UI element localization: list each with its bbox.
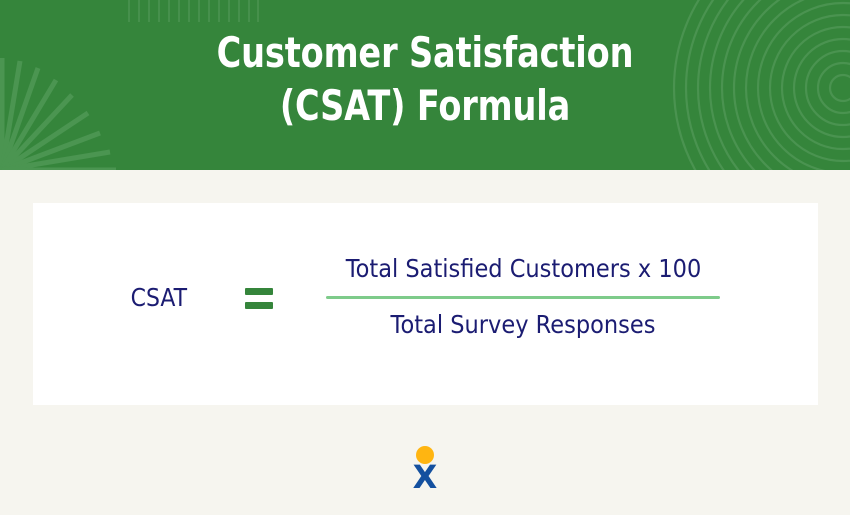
brand-logo: X bbox=[405, 443, 445, 491]
fraction-denominator: Total Survey Responses bbox=[346, 308, 701, 342]
equals-sign-icon bbox=[245, 288, 273, 310]
header-banner: Customer Satisfaction (CSAT) Formula bbox=[0, 0, 850, 170]
formula-result-label: CSAT bbox=[117, 283, 201, 313]
page-title: Customer Satisfaction (CSAT) Formula bbox=[85, 26, 765, 132]
logo-letter: X bbox=[405, 461, 445, 493]
fraction-numerator: Total Satisfied Customers x 100 bbox=[346, 252, 701, 286]
infographic-page: Customer Satisfaction (CSAT) Formula CSA… bbox=[0, 0, 850, 515]
equals-bar-bottom bbox=[245, 302, 273, 309]
fraction-divider-line bbox=[326, 296, 720, 299]
vertical-stripes-decoration bbox=[129, 0, 258, 22]
equals-bar-top bbox=[245, 288, 273, 295]
formula-fraction: Total Satisfied Customers x 100 Total Su… bbox=[326, 252, 720, 342]
